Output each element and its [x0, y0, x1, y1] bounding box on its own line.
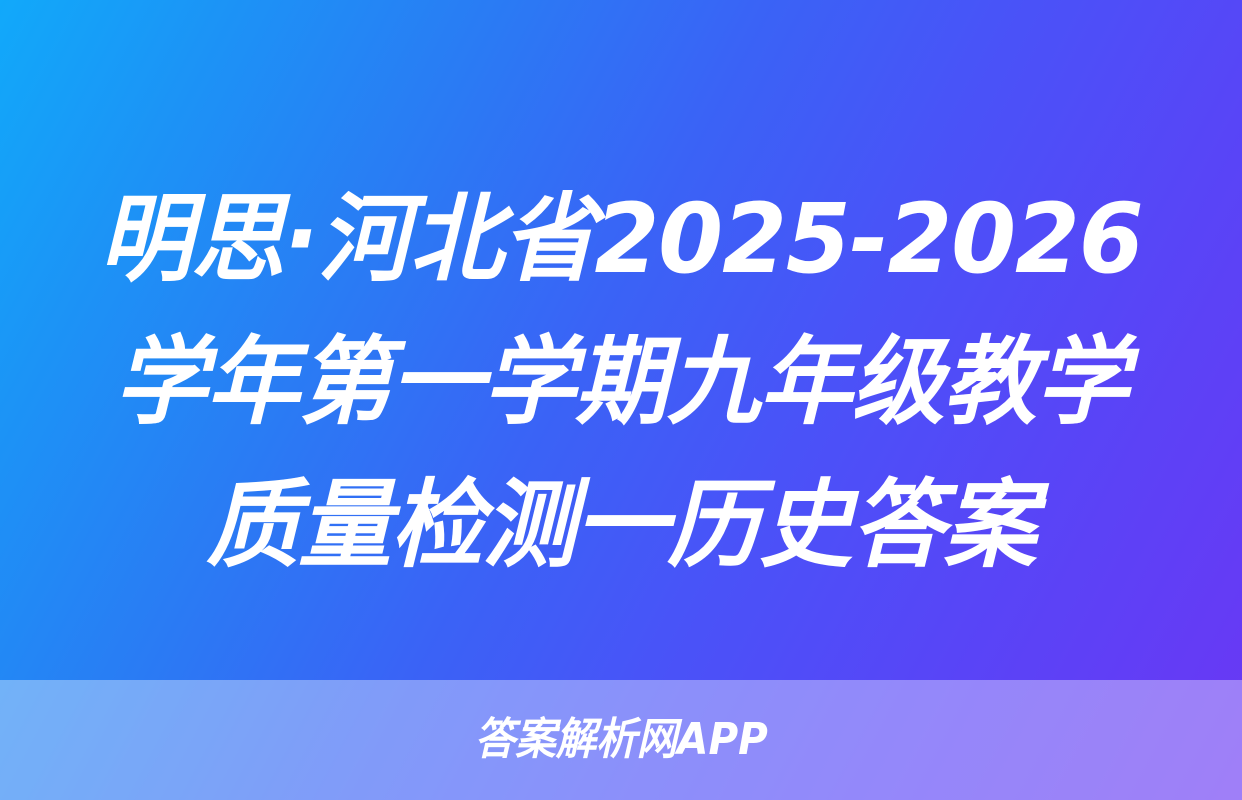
headline-line-2: 学年第一学期九年级教学: [65, 311, 1177, 454]
headline-line-1: 明思·河北省2025-2026: [65, 168, 1177, 311]
footer-band: 答案解析网APP: [0, 680, 1242, 800]
headline-block: 明思·河北省2025-2026 学年第一学期九年级教学 质量检测一历史答案: [0, 168, 1242, 597]
headline-line-3: 质量检测一历史答案: [65, 454, 1177, 597]
watermark-text: 答案解析网APP: [474, 718, 767, 762]
watermark-container: 答案解析网APP: [0, 680, 1242, 800]
answer-banner: 明思·河北省2025-2026 学年第一学期九年级教学 质量检测一历史答案 答案…: [0, 0, 1242, 800]
